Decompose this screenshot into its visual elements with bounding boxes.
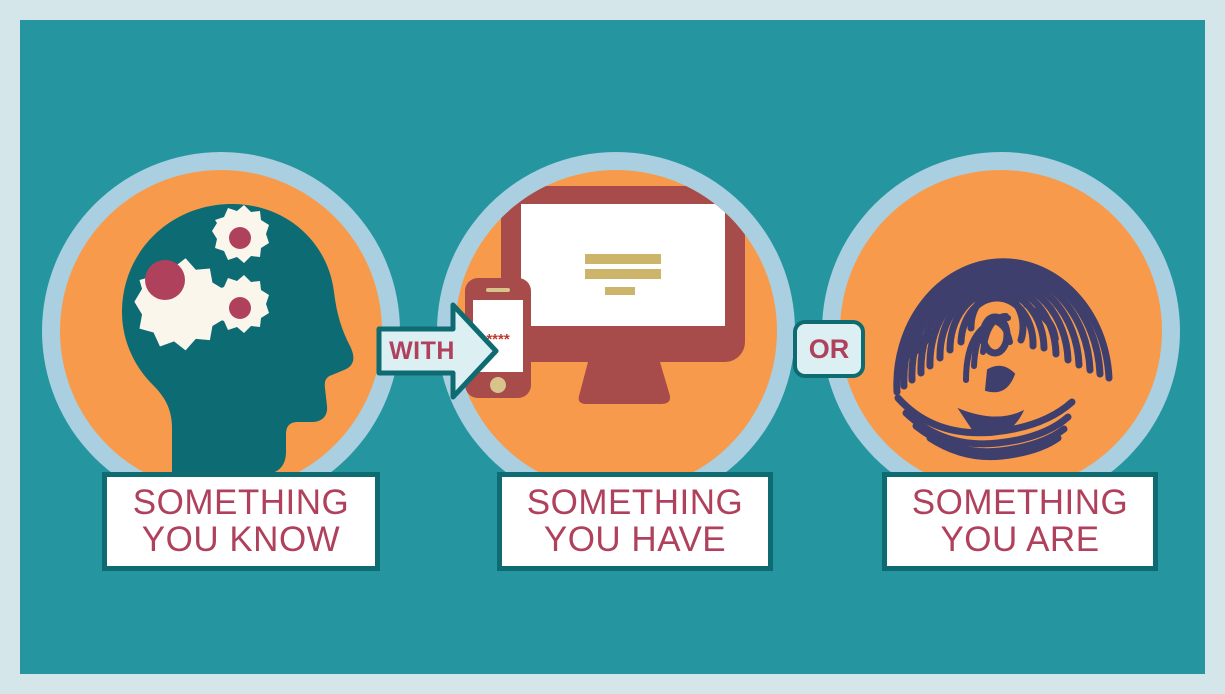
pillar-disc bbox=[840, 170, 1162, 492]
fingerprint-icon bbox=[840, 170, 1162, 492]
with-label: WITH bbox=[383, 331, 461, 371]
pillar-disc: **** bbox=[455, 170, 777, 492]
screen-bar-2 bbox=[585, 269, 661, 279]
plaque-line-2: YOU HAVE bbox=[544, 522, 726, 558]
with-connector: WITH bbox=[375, 301, 500, 401]
pillar-disc bbox=[60, 170, 382, 492]
infographic-stage: WITH bbox=[20, 20, 1205, 674]
monitor-stand bbox=[579, 362, 670, 404]
plaque-line-1: SOMETHING bbox=[133, 485, 349, 521]
plaque-something-you-have: SOMETHING YOU HAVE bbox=[497, 472, 773, 571]
pillar-something-you-are bbox=[822, 152, 1180, 510]
plaque-line-2: YOU ARE bbox=[940, 522, 1099, 558]
head-with-gears-icon bbox=[60, 170, 382, 492]
screen-bar-1 bbox=[585, 254, 661, 264]
plaque-line-1: SOMETHING bbox=[912, 485, 1128, 521]
plaque-line-2: YOU KNOW bbox=[142, 522, 340, 558]
phone-speaker bbox=[486, 288, 510, 292]
monitor-icon bbox=[501, 186, 745, 404]
plaque-something-you-are: SOMETHING YOU ARE bbox=[882, 472, 1158, 571]
monitor-and-phone-icon: **** bbox=[455, 170, 777, 492]
plaque-something-you-know: SOMETHING YOU KNOW bbox=[102, 472, 380, 571]
or-connector: OR bbox=[793, 320, 865, 378]
screen-bar-3 bbox=[605, 287, 635, 295]
infographic-canvas: WITH bbox=[0, 0, 1225, 694]
plaque-line-1: SOMETHING bbox=[527, 485, 743, 521]
pillar-something-you-know bbox=[42, 152, 400, 510]
